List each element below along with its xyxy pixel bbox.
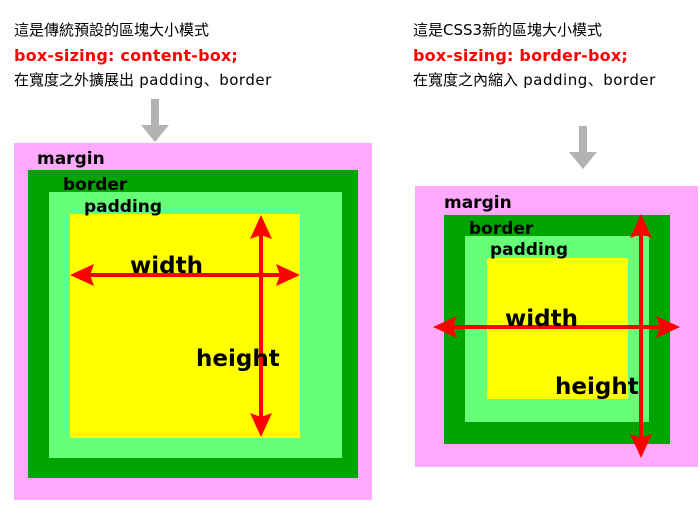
margin-label: margin — [37, 151, 105, 168]
margin-box: margin border padding width height — [14, 143, 372, 500]
height-label: height — [196, 348, 280, 371]
caption-line-3-light: padding、border — [134, 71, 272, 89]
height-label: height — [555, 376, 639, 399]
border-label: border — [63, 177, 127, 194]
caption-line-1: 這是CSS3新的區塊大小模式 — [413, 18, 656, 43]
margin-box: margin border padding width height — [415, 186, 698, 467]
caption-line-3: 在寬度之內縮入 padding、border — [413, 68, 656, 93]
caption-line-3-light: padding、border — [518, 71, 656, 89]
margin-label: margin — [444, 195, 512, 212]
content-box-panel: 這是傳統預設的區塊大小模式 box-sizing: content-box; 在… — [0, 0, 400, 514]
content-box — [70, 214, 300, 438]
caption-line-1: 這是傳統預設的區塊大小模式 — [14, 18, 272, 43]
border-label: border — [469, 221, 533, 238]
caption-line-3-bold: 在寬度之外擴展出 — [14, 71, 134, 89]
border-box: border padding — [28, 170, 358, 478]
arrow-down-icon — [140, 99, 170, 143]
padding-label: padding — [84, 199, 162, 216]
caption-code-line: box-sizing: border-box; — [413, 43, 656, 68]
caption-line-3: 在寬度之外擴展出 padding、border — [14, 68, 272, 93]
border-box-caption: 這是CSS3新的區塊大小模式 box-sizing: border-box; 在… — [413, 18, 656, 93]
caption-line-3-bold: 在寬度之內縮入 — [413, 71, 518, 89]
border-box-panel: 這是CSS3新的區塊大小模式 box-sizing: border-box; 在… — [400, 0, 700, 514]
content-box-caption: 這是傳統預設的區塊大小模式 box-sizing: content-box; 在… — [14, 18, 272, 93]
width-label: width — [505, 308, 578, 331]
width-label: width — [130, 255, 203, 278]
padding-label: padding — [490, 242, 568, 259]
caption-code-line: box-sizing: content-box; — [14, 43, 272, 68]
padding-box: padding — [49, 192, 342, 458]
arrow-down-icon — [568, 126, 598, 170]
